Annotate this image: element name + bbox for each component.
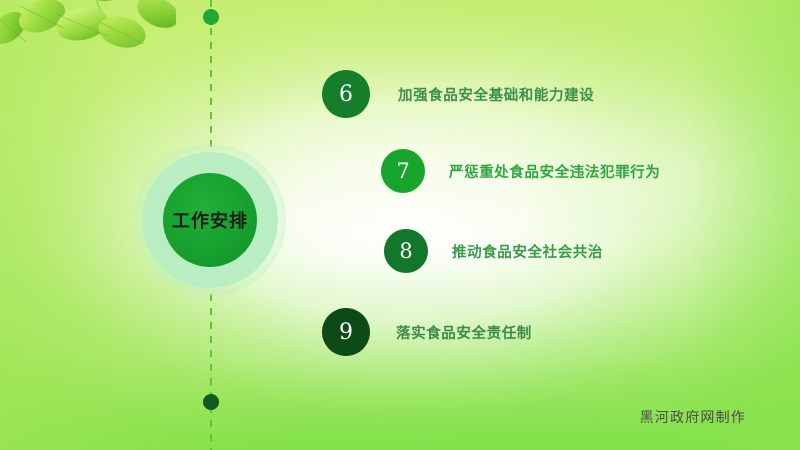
step-label-9: 落实食品安全责任制 [396,322,532,343]
slide-canvas: 工作安排 6 加强食品安全基础和能力建设 7 严惩重处食品安全违法犯罪行为 8 … [0,0,800,450]
step-number-9: 9 [339,320,353,345]
timeline-end-dot [203,394,219,410]
step-badge-8: 8 [384,229,428,273]
step-item-7[interactable]: 7 严惩重处食品安全违法犯罪行为 [381,149,660,193]
step-item-9[interactable]: 9 落实食品安全责任制 [322,308,532,356]
step-label-8: 推动食品安全社会共治 [452,241,603,262]
footer-credit: 黑河政府网制作 [640,407,746,427]
step-label-6: 加强食品安全基础和能力建设 [398,84,594,105]
hub-label: 工作安排 [172,207,248,233]
leaf-cluster-icon [0,0,176,100]
step-item-8[interactable]: 8 推动食品安全社会共治 [384,229,603,273]
step-label-7: 严惩重处食品安全违法犯罪行为 [449,161,660,182]
timeline-start-dot [203,9,219,25]
step-badge-9: 9 [322,308,370,356]
step-badge-6: 6 [322,70,370,118]
step-number-7: 7 [396,159,409,183]
step-number-8: 8 [399,239,412,263]
step-item-6[interactable]: 6 加强食品安全基础和能力建设 [322,70,594,118]
step-badge-7: 7 [381,149,425,193]
hub-circle[interactable]: 工作安排 [163,173,257,267]
step-number-6: 6 [339,82,353,107]
